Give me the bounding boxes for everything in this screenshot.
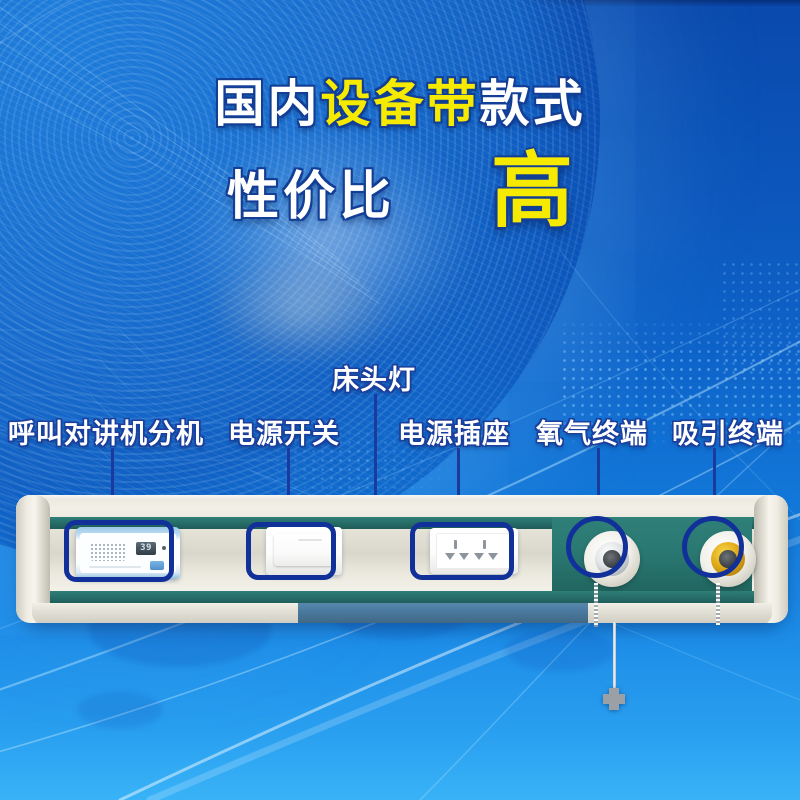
headline-block: 国内设备带款式 性价比 高 bbox=[0, 78, 800, 230]
halftone-dot-pattern-corner bbox=[720, 260, 800, 380]
highlight-circle-suction bbox=[682, 516, 744, 578]
product-promo-image: 国内设备带款式 性价比 高 呼叫对讲机分机 电源开关 床头灯 电源插座 氧气终端… bbox=[0, 0, 800, 800]
highlight-box-socket bbox=[410, 522, 514, 580]
lamp-pull-cord[interactable] bbox=[613, 622, 616, 694]
headline-subtext: 性价比 bbox=[227, 154, 395, 229]
headline-segment-1: 国内 bbox=[215, 75, 321, 133]
headline-segment-3: 款式 bbox=[480, 75, 586, 133]
callout-label-oxygen: 氧气终端 bbox=[536, 412, 648, 451]
lamp-diffuser-blue-section bbox=[298, 603, 588, 623]
suction-pull-cord[interactable] bbox=[716, 583, 720, 625]
callout-label-suction: 吸引终端 bbox=[672, 412, 784, 451]
headline-line-2: 性价比 高 bbox=[0, 153, 800, 231]
oxygen-pull-cord[interactable] bbox=[594, 583, 598, 627]
headline-emphasis-word: 高 bbox=[491, 153, 573, 231]
highlight-box-switch bbox=[246, 522, 336, 580]
highlight-circle-oxygen bbox=[566, 516, 628, 578]
lamp-pull-handle[interactable] bbox=[603, 688, 625, 710]
callout-label-intercom: 呼叫对讲机分机 bbox=[8, 412, 204, 451]
highlight-box-intercom bbox=[64, 520, 174, 582]
headline-line-1: 国内设备带款式 bbox=[0, 78, 800, 131]
headline-segment-2: 设备带 bbox=[321, 75, 480, 133]
callout-label-lamp: 床头灯 bbox=[332, 358, 416, 397]
callout-label-switch: 电源开关 bbox=[228, 412, 340, 451]
callout-label-socket: 电源插座 bbox=[398, 412, 510, 451]
